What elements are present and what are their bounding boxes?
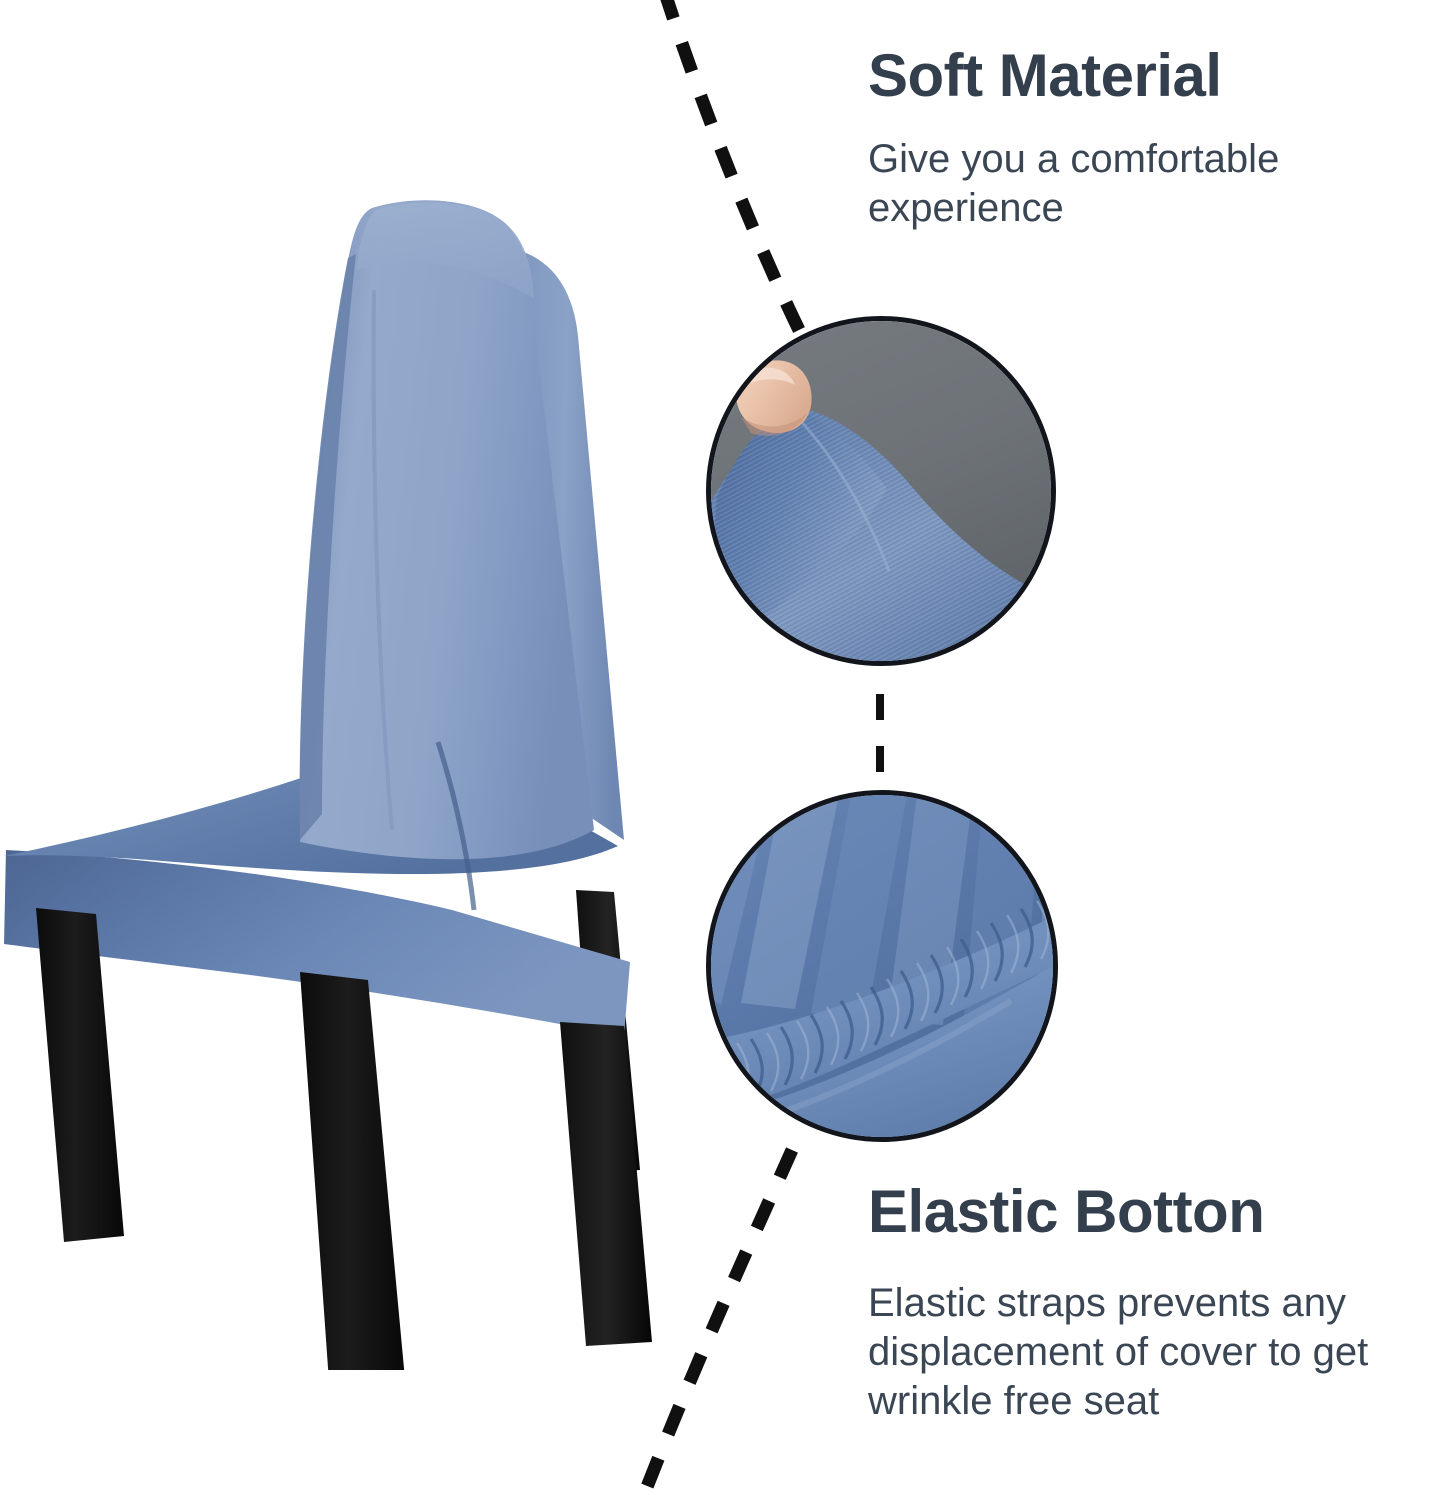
feature-body-elastic-bottom: Elastic straps prevents any displacement…: [868, 1279, 1388, 1425]
feature-block-soft-material: Soft Material Give you a comfortable exp…: [868, 42, 1388, 233]
feature-block-elastic-bottom: Elastic Botton Elastic straps prevents a…: [868, 1178, 1388, 1426]
feature-body-soft-material: Give you a comfortable experience: [868, 135, 1388, 233]
callout-elastic-hem: [706, 790, 1058, 1142]
product-feature-infographic: Soft Material Give you a comfortable exp…: [0, 0, 1445, 1497]
dashed-connector: [876, 690, 884, 784]
chair-leg-front-left: [36, 908, 124, 1242]
chair-illustration: [0, 150, 720, 1370]
chair-leg-front-right: [300, 972, 406, 1370]
chair-leg-back-right: [560, 1022, 652, 1346]
callout-fabric-pinch: [706, 316, 1056, 666]
feature-heading-soft-material: Soft Material: [868, 42, 1388, 109]
feature-heading-elastic-bottom: Elastic Botton: [868, 1178, 1388, 1245]
